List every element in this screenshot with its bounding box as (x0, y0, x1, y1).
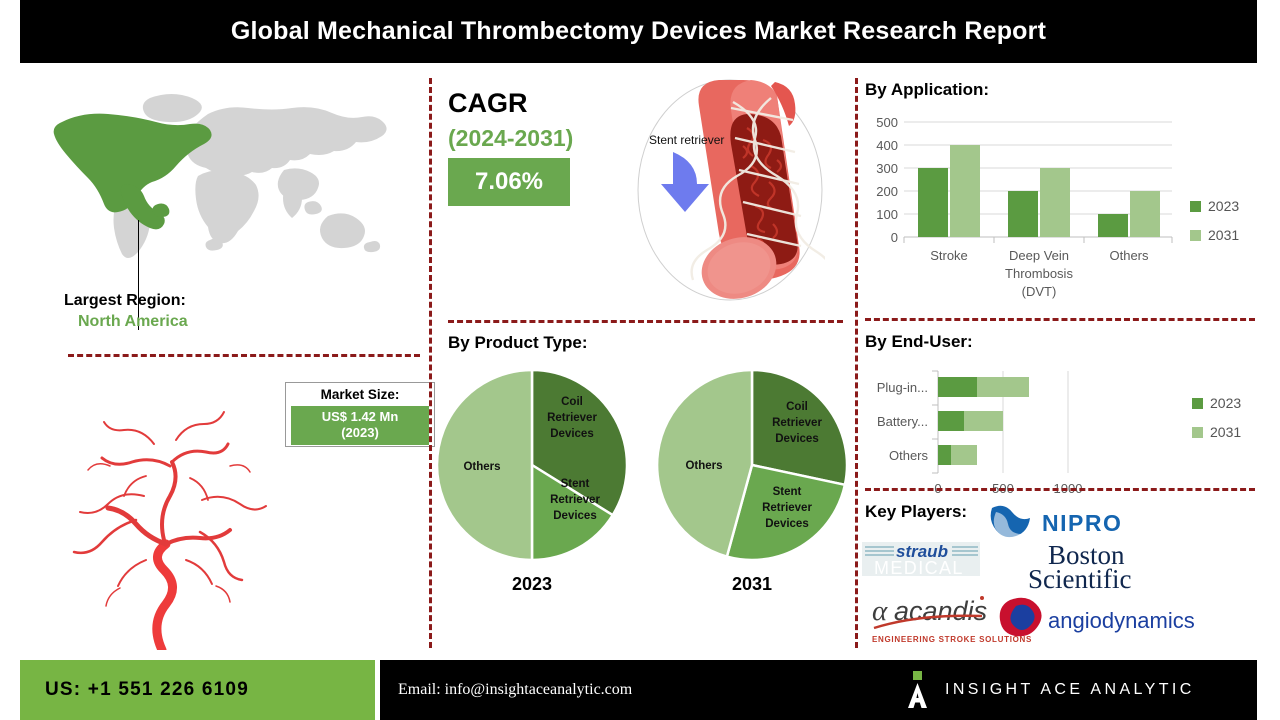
pie-chart-2031: Coil Retriever Devices Stent Retriever D… (652, 365, 852, 595)
market-size-value: US$ 1.42 Mn (2023) (291, 406, 429, 445)
footer-phone-block: US: +1 551 226 6109 (20, 660, 375, 720)
pie-2031-year: 2031 (652, 574, 852, 595)
legend-item-2023: 2023 (1190, 198, 1260, 214)
by-product-type-title: By Product Type: (448, 333, 587, 353)
svg-text:200: 200 (876, 184, 898, 199)
divider-left (68, 354, 420, 357)
ytick-others: Others (889, 448, 929, 463)
legend-swatch-2023 (1192, 398, 1203, 409)
market-size-card: Market Size: US$ 1.42 Mn (2023) (285, 382, 435, 447)
divider-vertical-2 (855, 78, 858, 648)
svg-text:Devices: Devices (765, 518, 808, 530)
stent-retriever-illustration: Stent retriever (635, 78, 825, 303)
legend-item-2031: 2031 (1190, 227, 1260, 243)
by-enduser-chart: Plug-in... Battery... Others 0 500 1000 (860, 365, 1160, 505)
legend-item-2031: 2031 (1192, 424, 1262, 440)
report-header: Global Mechanical Thrombectomy Devices M… (20, 0, 1257, 63)
by-application-chart: 500 400 300 200 100 0 (860, 110, 1190, 315)
region-panel: Largest Region: North America (20, 70, 420, 650)
svg-text:angiodynamics: angiodynamics (1048, 608, 1195, 633)
divider-right-2 (865, 488, 1255, 491)
stent-retriever-caption: Stent retriever (649, 133, 724, 147)
pie-slice-label-coil: Coil (561, 396, 583, 408)
svg-text:0: 0 (891, 230, 898, 245)
divider-right-1 (865, 318, 1255, 321)
footer-contact-block: Email: info@insightaceanalytic.com INSIG… (380, 660, 1257, 720)
ytick-plugin: Plug-in... (877, 380, 928, 395)
pie-slice-label-others: Others (463, 461, 500, 473)
footer-phone: US: +1 551 226 6109 (20, 679, 249, 701)
xtick-others: Others (1109, 248, 1149, 263)
legend-label-2023: 2023 (1210, 395, 1241, 411)
cagr-value: 7.06% (475, 168, 543, 196)
legend-label-2031: 2031 (1208, 227, 1239, 243)
svg-text:acandis: acandis (894, 596, 987, 626)
page-title: Global Mechanical Thrombectomy Devices M… (231, 17, 1046, 46)
cagr-label: CAGR (448, 88, 528, 119)
svg-text:Devices: Devices (550, 428, 593, 440)
insight-ace-a-logo-icon (905, 670, 931, 710)
footer-brand-name: INSIGHT ACE ANALYTIC (945, 681, 1195, 699)
pie-slice-label-others: Others (685, 460, 722, 472)
nipro-logo: NIPRO (991, 506, 1123, 538)
market-size-year: (2023) (341, 425, 379, 440)
svg-text:400: 400 (876, 138, 898, 153)
svg-text:300: 300 (876, 161, 898, 176)
by-enduser-title: By End-User: (865, 332, 973, 352)
svg-text:Retriever: Retriever (547, 412, 597, 424)
cerebral-angiogram-icon (50, 400, 280, 650)
pie-2023-year: 2023 (432, 574, 632, 595)
svg-text:100: 100 (876, 207, 898, 222)
market-size-title: Market Size: (321, 387, 400, 403)
svg-text:Scientific: Scientific (1028, 564, 1131, 594)
cagr-value-badge: 7.06% (448, 158, 570, 206)
by-enduser-legend: 2023 2031 (1192, 395, 1262, 453)
svg-text:Devices: Devices (775, 433, 818, 445)
svg-text:MEDICAL: MEDICAL (874, 558, 964, 578)
svg-text:500: 500 (876, 115, 898, 130)
svg-text:Retriever: Retriever (762, 502, 812, 514)
footer-email: Email: info@insightaceanalytic.com (380, 681, 632, 699)
brand-lockup: INSIGHT ACE ANALYTIC (905, 670, 1195, 710)
pie-slice-label-stent: Stent (561, 478, 590, 490)
svg-text:NIPRO: NIPRO (1042, 510, 1122, 536)
svg-text:ENGINEERING STROKE SOLUTIONS: ENGINEERING STROKE SOLUTIONS (872, 635, 1032, 644)
legend-swatch-2023 (1190, 201, 1201, 212)
ytick-battery: Battery... (877, 414, 928, 429)
largest-region-value: North America (78, 313, 188, 331)
svg-text:Retriever: Retriever (550, 494, 600, 506)
cagr-years: (2024-2031) (448, 125, 573, 152)
pie-chart-2023: Coil Retriever Devices Stent Retriever D… (432, 365, 632, 595)
angiodynamics-logo: angiodynamics (1000, 598, 1195, 637)
by-application-legend: 2023 2031 (1190, 198, 1260, 256)
legend-label-2031: 2031 (1210, 424, 1241, 440)
pie-slice-label-coil: Coil (786, 401, 808, 413)
legend-item-2023: 2023 (1192, 395, 1262, 411)
charts-panel: By Application: 500 400 300 200 100 0 (860, 70, 1260, 650)
largest-region-label: Largest Region: (64, 292, 186, 310)
divider-middle (448, 320, 843, 323)
market-size-amount: US$ 1.42 Mn (322, 409, 399, 424)
legend-swatch-2031 (1190, 230, 1201, 241)
svg-text:α: α (872, 595, 888, 627)
pie-slice-label-stent: Stent (773, 486, 802, 498)
straub-medical-logo: straub MEDICAL (862, 542, 980, 578)
by-application-title: By Application: (865, 80, 989, 100)
legend-swatch-2031 (1192, 427, 1203, 438)
xtick-stroke: Stroke (930, 248, 968, 263)
svg-text:Retriever: Retriever (772, 417, 822, 429)
xtick-dvt-line1: Deep Vein (1009, 248, 1069, 263)
world-map-icon (40, 80, 405, 270)
legend-label-2023: 2023 (1208, 198, 1239, 214)
boston-scientific-logo: Boston Scientific (1028, 540, 1131, 594)
svg-text:(DVT): (DVT) (1022, 284, 1057, 299)
cagr-and-product-panel: CAGR (2024-2031) 7.06% (430, 70, 855, 650)
svg-text:Thrombosis: Thrombosis (1005, 266, 1073, 281)
svg-text:Devices: Devices (553, 510, 596, 522)
key-players-logos: NIPRO straub MEDICAL Boston Scientific α (860, 502, 1260, 647)
